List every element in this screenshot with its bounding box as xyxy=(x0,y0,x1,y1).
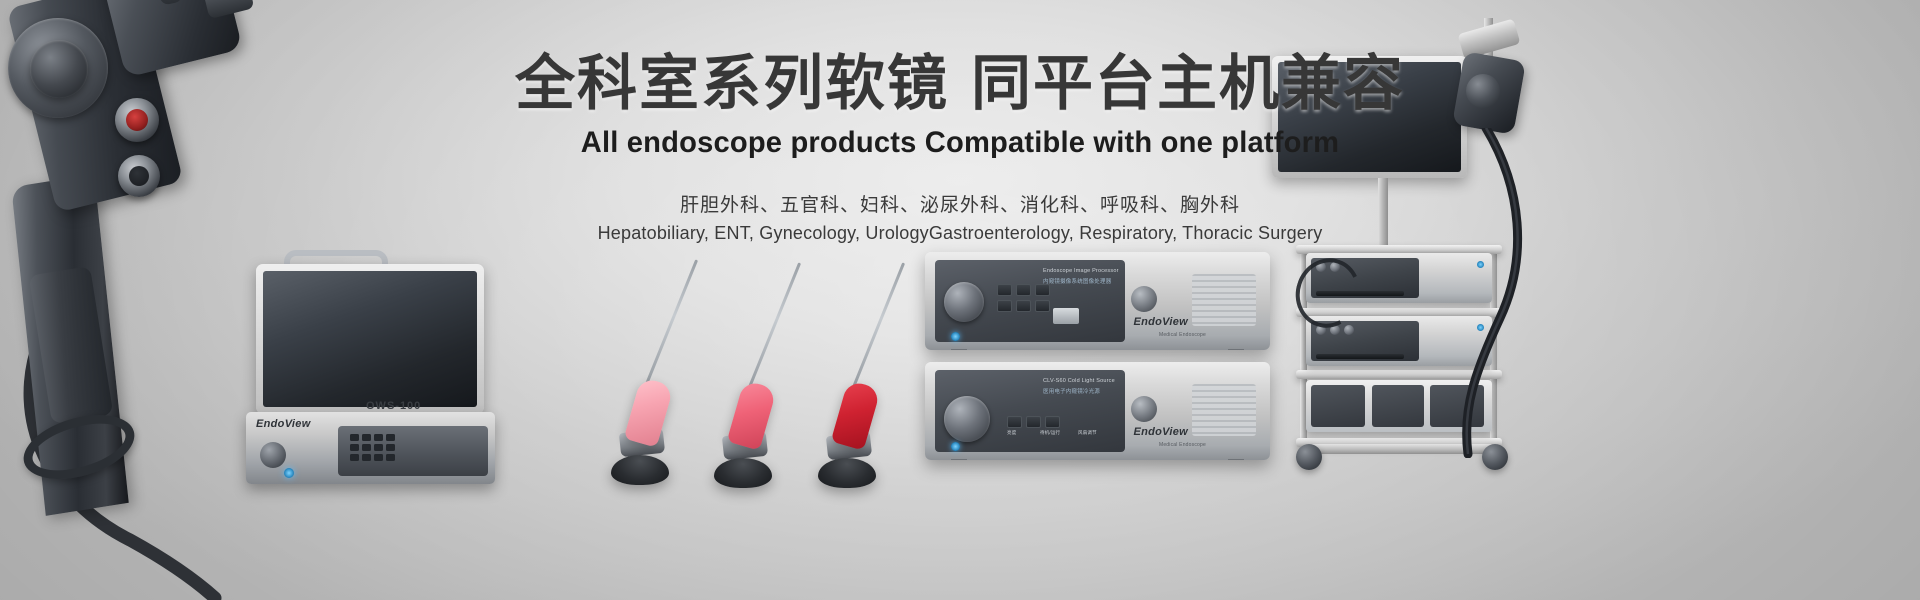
processor-main-dial xyxy=(944,282,984,322)
instrument-stand xyxy=(611,455,669,485)
specialties-chinese: 肝胆外科、五官科、妇科、泌尿外科、消化科、呼吸科、胸外科 xyxy=(0,190,1920,217)
monitor-control-dial xyxy=(260,442,286,468)
light-source-sub-label: Medical Endoscope xyxy=(1159,442,1206,448)
instrument-stand xyxy=(714,458,772,488)
laparoscopic-instrument-coral xyxy=(688,258,798,488)
specialties-english: Hepatobiliary, ENT, Gynecology, UrologyG… xyxy=(0,223,1920,244)
light-source-control-label-3: 风扇调节 xyxy=(1078,430,1097,436)
cart-device-panel-center xyxy=(1372,385,1424,427)
light-source-power-led xyxy=(951,442,960,451)
unit-foot xyxy=(1228,459,1244,460)
monitor-model-label: OWS-100 xyxy=(366,400,421,412)
monitor-base-unit: OWS-100 EndoView xyxy=(246,412,495,484)
monitor-keypad xyxy=(350,434,395,461)
page-title: 全科室系列软镜同平台主机兼容 xyxy=(0,52,1920,116)
instrument-handle xyxy=(831,380,881,451)
light-source-brand-label: EndoView xyxy=(1133,426,1188,438)
ows-100-monitor-unit: OWS-100 EndoView xyxy=(238,250,503,480)
unit-foot xyxy=(951,349,967,350)
headline-part-1: 全科室系列软镜 xyxy=(515,50,949,117)
cart-caster-left xyxy=(1296,444,1322,470)
processor-button-block xyxy=(997,284,1050,312)
light-source-side-knob xyxy=(1131,396,1157,422)
processor-panel-label-cn: 内窥镜摄像系统图像处理器 xyxy=(1043,277,1111,285)
processor-brand-label: EndoView xyxy=(1133,316,1188,328)
unit-foot xyxy=(951,459,967,460)
headline-part-2: 同平台主机兼容 xyxy=(971,50,1405,117)
subtitle-english: All endoscope products Compatible with o… xyxy=(29,126,1891,160)
light-source-panel-label-cn: 医用电子内窥镜冷光源 xyxy=(1043,387,1100,395)
monitor-bezel xyxy=(256,264,484,414)
processor-side-knob xyxy=(1131,286,1157,312)
monitor-screen xyxy=(263,271,477,407)
cart-device-panel-left xyxy=(1311,385,1365,427)
light-source-brightness-dial xyxy=(944,396,990,442)
unit-foot xyxy=(1228,349,1244,350)
processor-front-panel: Endoscope Image Processor 内窥镜摄像系统图像处理器 xyxy=(935,260,1125,342)
instrument-shaft xyxy=(846,262,905,402)
processor-sub-label: Medical Endoscope xyxy=(1159,332,1206,338)
banner-text-block: 全科室系列软镜同平台主机兼容 All endoscope products Co… xyxy=(0,52,1920,244)
endoscope-image-processor: Endoscope Image Processor 内窥镜摄像系统图像处理器 E… xyxy=(925,252,1270,350)
laparoscopic-instrument-red xyxy=(792,258,902,488)
monitor-brand-label: EndoView xyxy=(256,418,311,430)
light-source-front-panel: CLV-S60 Cold Light Source 医用电子内窥镜冷光源 亮度 … xyxy=(935,370,1125,452)
light-source-control-label-1: 亮度 xyxy=(1007,430,1016,436)
light-source-panel-label-en: CLV-S60 Cold Light Source xyxy=(1043,378,1115,384)
laparoscopic-instrument-pink xyxy=(585,255,695,485)
processor-vent-grille xyxy=(1192,274,1256,326)
light-source-button-block xyxy=(1007,416,1060,428)
processor-panel-label-en: Endoscope Image Processor xyxy=(1043,268,1119,274)
monitor-power-led xyxy=(284,468,294,478)
processor-power-led xyxy=(951,332,960,341)
light-source-vent-grille xyxy=(1192,384,1256,436)
cart-device-slot xyxy=(1316,354,1404,359)
instrument-handle xyxy=(624,377,674,448)
processor-connector-port xyxy=(1053,308,1079,324)
cold-light-source-unit: CLV-S60 Cold Light Source 医用电子内窥镜冷光源 亮度 … xyxy=(925,362,1270,460)
light-source-control-label-2: 待机/运行 xyxy=(1040,430,1060,436)
processor-unit-stack: Endoscope Image Processor 内窥镜摄像系统图像处理器 E… xyxy=(925,252,1270,467)
endoscope-product-banner: OWS-100 EndoView Endoscope Image xyxy=(0,0,1920,600)
instrument-stand xyxy=(818,458,876,488)
instrument-handle xyxy=(727,380,777,451)
